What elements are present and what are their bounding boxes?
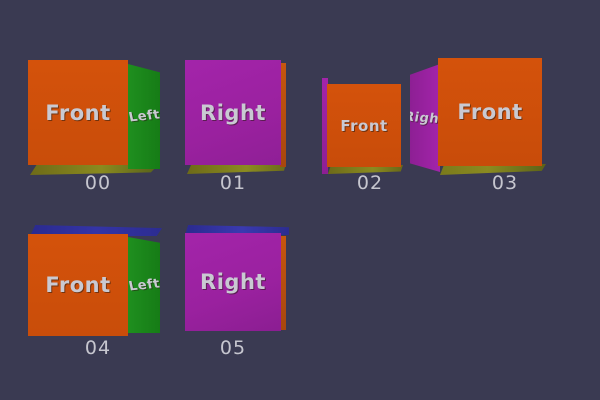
- cube-03-caption: 03: [475, 172, 535, 194]
- cube-04-front-face: Front: [28, 234, 128, 336]
- cube-00[interactable]: Left Front: [28, 60, 168, 175]
- cube-05-right-face: Right: [185, 233, 281, 331]
- cube-01-right-label: Right: [200, 101, 266, 125]
- cube-00-front-label: Front: [45, 101, 110, 125]
- cube-01[interactable]: Right: [185, 60, 295, 175]
- cube-03-right-label: Right: [410, 109, 440, 127]
- cube-02[interactable]: Front: [322, 78, 422, 178]
- cube-02-front-label: Front: [340, 117, 387, 135]
- cube-01-right-face: Right: [185, 60, 281, 165]
- cube-03[interactable]: Right Front: [410, 58, 550, 178]
- cube-05[interactable]: Right: [185, 225, 295, 340]
- cube-04-caption: 04: [68, 337, 128, 359]
- cube-03-front-label: Front: [457, 100, 522, 124]
- cube-03-front-face: Front: [438, 58, 542, 166]
- cube-00-caption: 00: [68, 172, 128, 194]
- cube-00-left-label: Left: [128, 108, 160, 126]
- cube-04[interactable]: Left Front: [28, 225, 168, 340]
- cube-04-left-face: Left: [128, 237, 160, 333]
- cube-05-caption: 05: [203, 337, 263, 359]
- cube-04-left-label: Left: [128, 276, 160, 294]
- cube-gallery-canvas: Left Front 00 Right 01 Front 02 Right Fr…: [0, 0, 600, 400]
- cube-00-left-face: Left: [128, 64, 160, 169]
- cube-04-front-label: Front: [45, 273, 110, 297]
- cube-00-front-face: Front: [28, 60, 128, 165]
- cube-02-front-face: Front: [327, 84, 401, 167]
- cube-02-caption: 02: [340, 172, 400, 194]
- cube-05-right-label: Right: [200, 270, 266, 294]
- cube-03-right-face: Right: [410, 64, 440, 172]
- cube-01-caption: 01: [203, 172, 263, 194]
